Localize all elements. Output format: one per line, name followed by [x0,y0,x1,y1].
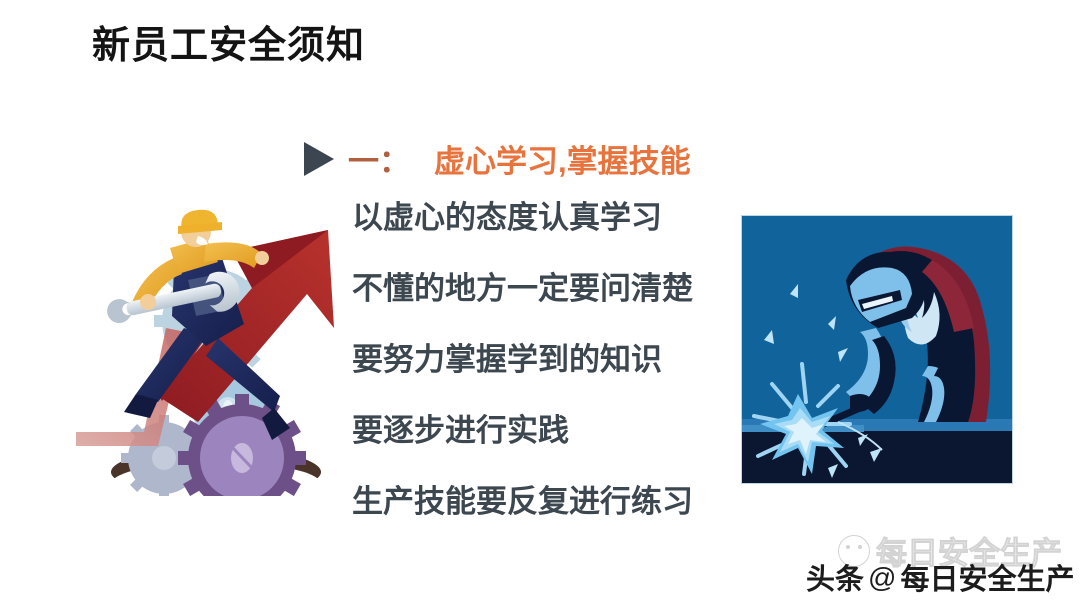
slide-canvas: 新员工安全须知 [0,0,1080,608]
watermark-platform: 头条 [806,556,864,598]
welding-image [742,216,1012,483]
list-item: 以虚心的态度认真学习 [352,202,772,233]
section-heading-number: 一： [348,136,410,181]
list-item: 要逐步进行实践 [352,415,772,446]
bullet-list: 以虚心的态度认真学习 不懂的地方一定要问清楚 要努力掌握学到的知识 要逐步进行实… [352,202,772,517]
list-item: 要努力掌握学到的知识 [352,344,772,375]
bench [742,431,1012,483]
section-heading: 一： 虚心学习,掌握技能 [304,136,691,181]
section-heading-text: 虚心学习,掌握技能 [434,136,691,181]
watermark: 头条 @ 每日安全生产 [806,556,1074,598]
watermark-account: 每日安全生产 [900,556,1074,598]
worker-illustration [66,196,366,496]
list-item: 生产技能要反复进行练习 [352,486,772,517]
page-title: 新员工安全须知 [92,26,365,68]
triangle-right-icon [304,142,334,176]
list-item: 不懂的地方一定要问清楚 [352,273,772,304]
at-symbol-icon: @ [868,562,896,594]
